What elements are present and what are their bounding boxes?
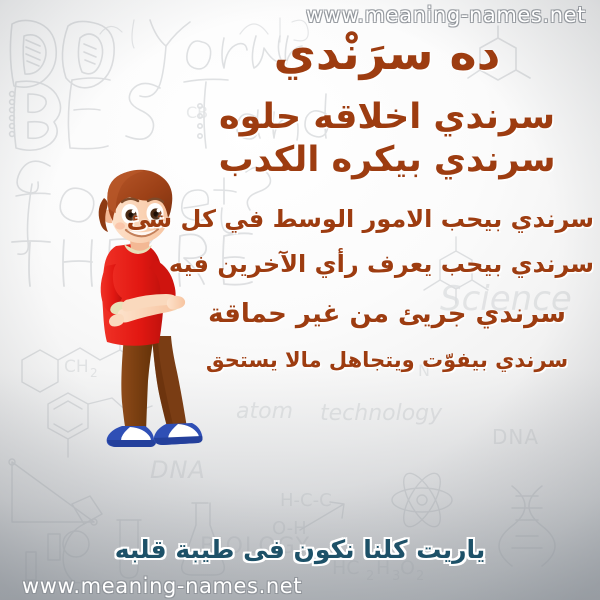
watermark-bottom: www.meaning-names.net: [22, 574, 302, 598]
svg-text:3: 3: [392, 569, 400, 584]
trait-line-6: سرندي بيفوّت ويتجاهل مالا يستحق: [180, 349, 594, 373]
svg-text:H: H: [376, 557, 390, 579]
svg-text:Science: Science: [440, 279, 572, 319]
name-meaning-card: BIOLOGY Science technology atom DNA DNA …: [0, 0, 600, 600]
trait-line-1: سرندي اخلاقه حلوه: [180, 98, 594, 137]
svg-text:H-C-C: H-C-C: [280, 490, 332, 511]
svg-text:O: O: [400, 557, 415, 579]
trait-line-4: سرندي بيحب يعرف رأي الآخرين فيه: [180, 251, 594, 278]
trait-line-3: سرندي بيحب الامور الوسط في كل شئ: [180, 206, 594, 233]
svg-text:O-H: O-H: [272, 518, 307, 539]
svg-text:HC: HC: [332, 557, 360, 579]
trait-line-2: سرندي بيكره الكدب: [180, 141, 594, 180]
svg-text:BIOLOGY: BIOLOGY: [200, 534, 311, 559]
svg-text:DNA: DNA: [150, 456, 206, 484]
svg-text:2: 2: [366, 569, 374, 584]
svg-text:N: N: [418, 361, 430, 380]
trait-line-5: سرندي جريئ من غير حماقة: [180, 300, 594, 329]
page-title: ده سرَنْدي: [180, 28, 594, 80]
text-block: ده سرَنْدي سرندي اخلاقه حلوه سرندي بيكره…: [180, 0, 600, 520]
svg-text:technology: technology: [320, 401, 443, 426]
watermark-top: www.meaning-names.net: [306, 3, 586, 27]
cartoon-boy-illustration: [78, 168, 228, 453]
svg-text:atom: atom: [236, 399, 293, 424]
svg-text:DNA: DNA: [492, 425, 539, 449]
svg-text:CB: CB: [186, 103, 208, 122]
svg-text:2: 2: [416, 569, 424, 584]
footer-wish-text: ياريت كلنا نكون فى طيبة قلبه: [0, 535, 600, 564]
